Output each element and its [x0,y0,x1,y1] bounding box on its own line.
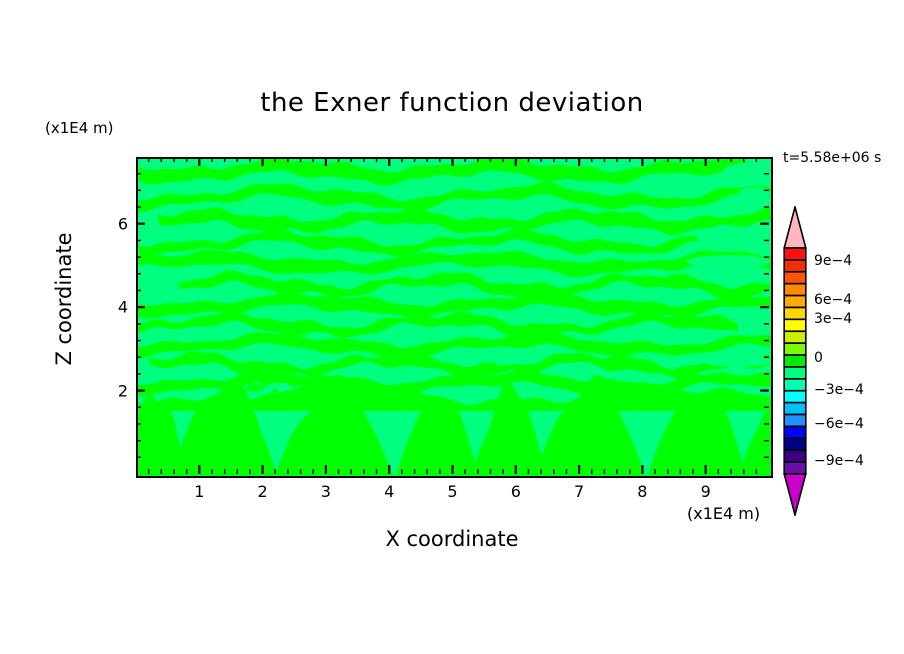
colorbar-tick-label: 6e−4 [814,292,852,308]
colorbar-swatches [783,206,807,516]
colorbar-tick-label: −9e−4 [814,453,864,469]
y-axis-title: Z coordinate [52,199,76,399]
y-tick-label: 6 [106,214,128,233]
x-tick-label: 1 [194,482,204,501]
x-tick-label: 9 [701,482,711,501]
x-tick-label: 2 [258,482,268,501]
colorbar-tick-label: 9e−4 [814,253,852,269]
x-axis-units-label: (x1E4 m) [687,504,760,523]
page-title: the Exner function deviation [0,88,904,118]
timestamp-label: t=5.58e+06 s [783,150,881,166]
colorbar-tick-label: −6e−4 [814,416,864,432]
x-tick-label: 7 [574,482,584,501]
x-tick-label: 8 [637,482,647,501]
colorbar [783,206,807,516]
plot-area [136,157,773,478]
x-tick-label: 5 [447,482,457,501]
x-tick-label: 3 [321,482,331,501]
y-tick-label: 2 [106,381,128,400]
colorbar-tick-label: 0 [814,350,823,366]
contour-field [138,159,771,476]
y-tick-label: 4 [106,298,128,317]
x-axis-title: X coordinate [0,527,904,551]
x-tick-label: 4 [384,482,394,501]
colorbar-tick-label: 3e−4 [814,311,852,327]
colorbar-tick-label: −3e−4 [814,382,864,398]
y-axis-units-label: (x1E4 m) [45,119,114,137]
x-tick-label: 6 [511,482,521,501]
